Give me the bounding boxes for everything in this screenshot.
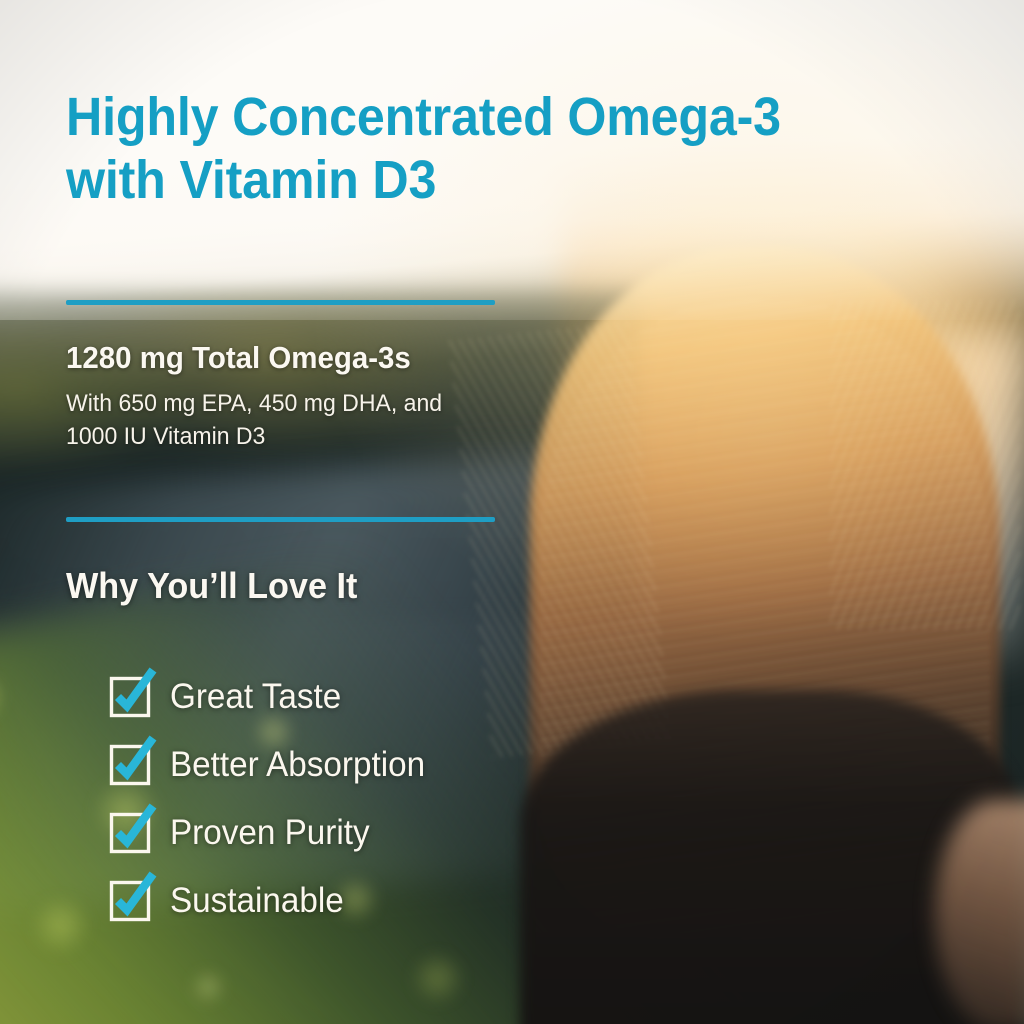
page-title: Highly Concentrated Omega-3with Vitamin … <box>66 86 838 212</box>
dosage-heading: 1280 mg Total Omega-3s <box>66 340 513 377</box>
divider-rule-bottom <box>66 517 495 522</box>
checkbox-checked-icon <box>110 745 148 783</box>
product-feature-poster: Highly Concentrated Omega-3with Vitamin … <box>0 0 1024 1024</box>
checkbox-checked-icon <box>110 813 148 851</box>
benefits-list: Great Taste Better Absorption Proven Pur… <box>110 662 439 934</box>
dosage-detail-line-1: With 650 mg EPA, 450 mg DHA, and <box>66 390 442 417</box>
checkbox-checked-icon <box>110 881 148 919</box>
list-item-label: Great Taste <box>170 679 341 714</box>
benefit-item-2: Proven Purity <box>110 798 439 866</box>
headline-line-2: with Vitamin D3 <box>66 150 436 210</box>
dosage-detail: With 650 mg EPA, 450 mg DHA, and1000 IU … <box>66 387 517 453</box>
benefits-heading: Why You’ll Love It <box>66 566 357 606</box>
poster-content: Highly Concentrated Omega-3with Vitamin … <box>0 0 1024 1024</box>
divider-rule-top <box>66 300 495 305</box>
benefit-item-0: Great Taste <box>110 662 439 730</box>
dosage-block: 1280 mg Total Omega-3s With 650 mg EPA, … <box>66 340 536 453</box>
list-item-label: Proven Purity <box>170 815 370 850</box>
checkbox-checked-icon <box>110 677 148 715</box>
dosage-detail-line-2: 1000 IU Vitamin D3 <box>66 420 517 453</box>
list-item-label: Better Absorption <box>170 747 425 782</box>
benefit-item-3: Sustainable <box>110 866 439 934</box>
benefit-item-1: Better Absorption <box>110 730 439 798</box>
list-item-label: Sustainable <box>170 883 344 918</box>
headline-line-1: Highly Concentrated Omega-3 <box>66 87 781 147</box>
